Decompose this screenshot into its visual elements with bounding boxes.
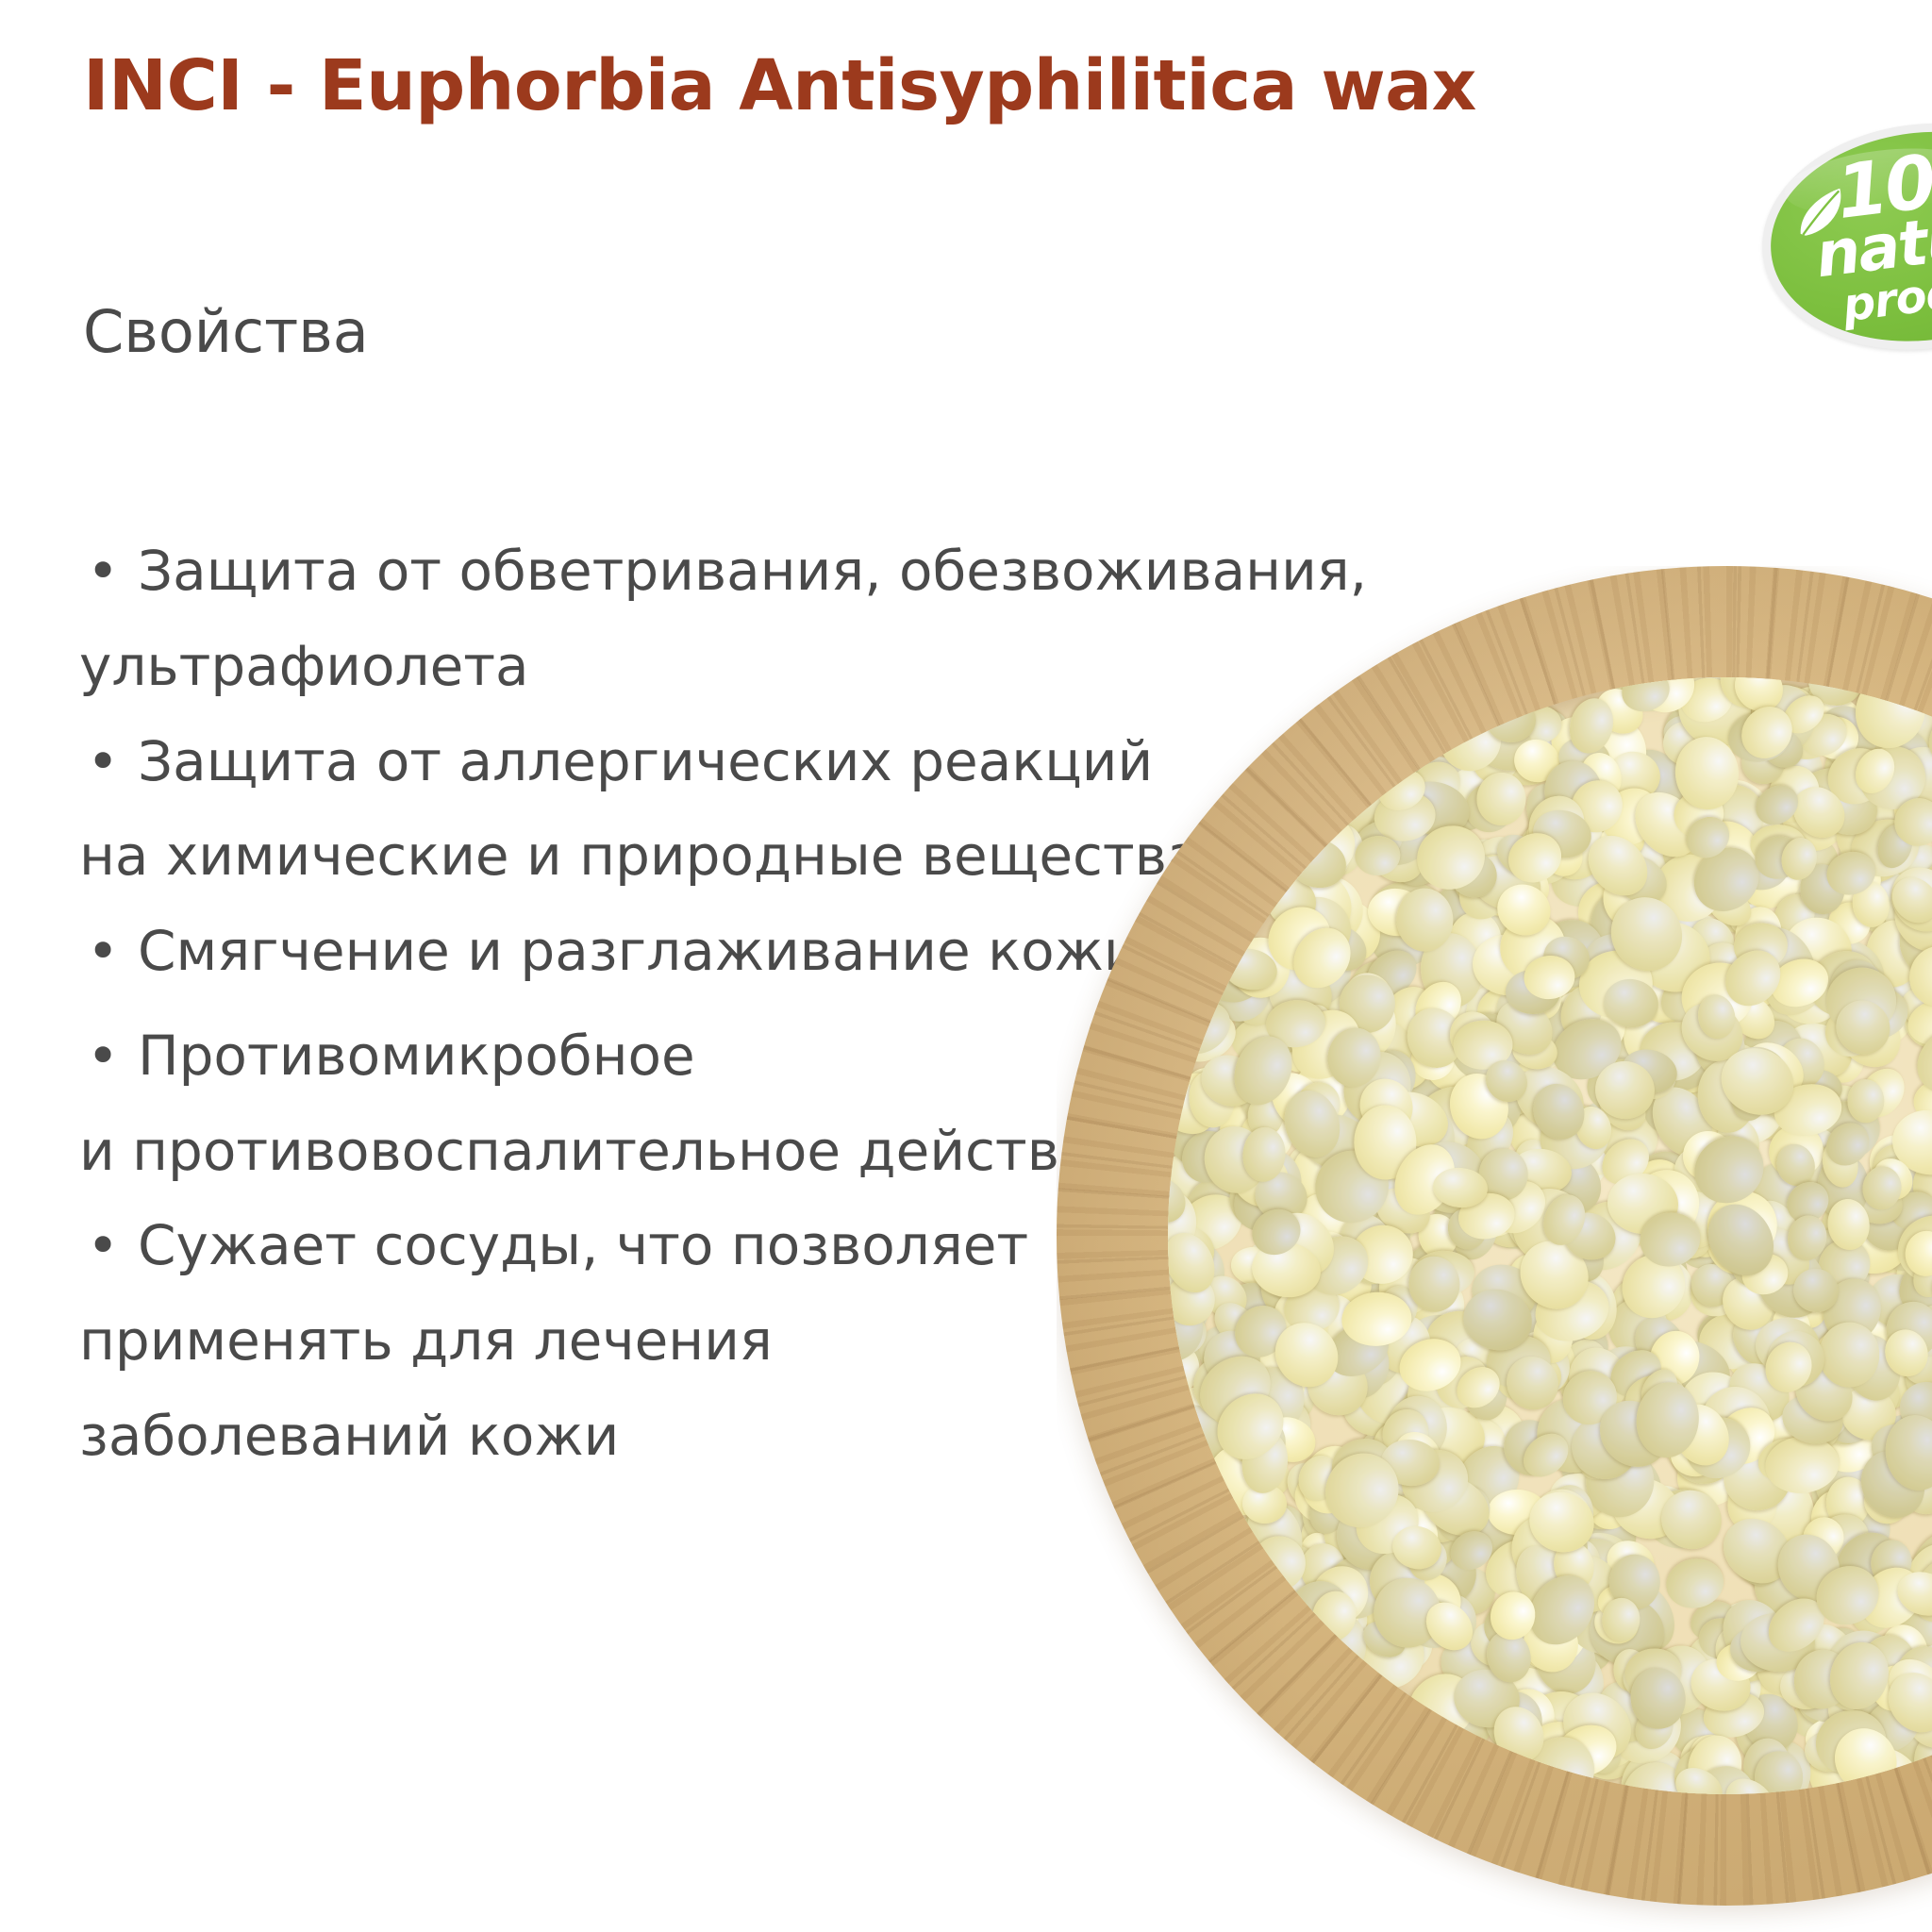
wooden-bowl [1057, 566, 1932, 1906]
bowl-interior [1168, 677, 1932, 1794]
badge-text-block: 100% natural product [1749, 106, 1932, 368]
bullet-marker-icon: • [79, 1212, 138, 1279]
bullet-marker-icon: • [79, 538, 138, 605]
bullet-marker-icon: • [79, 728, 138, 795]
wax-pellets-photo [1057, 566, 1932, 1932]
page-title: INCI - Euphorbia Antisyphilitica wax [83, 45, 1476, 126]
bullet-marker-icon: • [79, 918, 138, 985]
wax-pellet-cluster [1168, 677, 1932, 1794]
slide-canvas: INCI - Euphorbia Antisyphilitica wax Сво… [0, 0, 1932, 1932]
section-heading-properties: Свойства [83, 297, 369, 366]
bullet-marker-icon: • [79, 1023, 138, 1090]
100-percent-natural-badge: 100% natural product [1749, 106, 1932, 368]
